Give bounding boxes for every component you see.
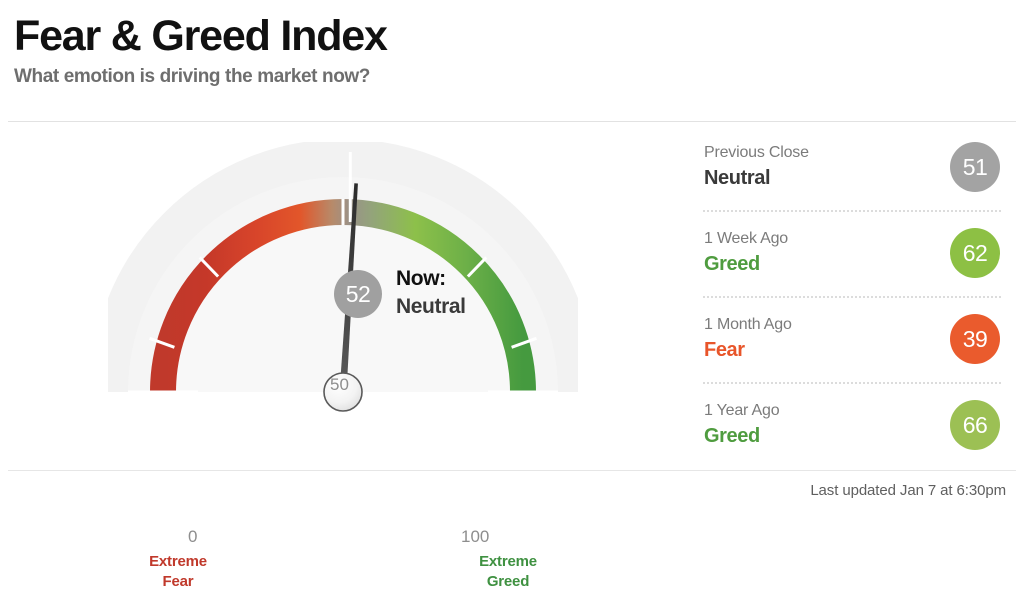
last-updated-timestamp: Last updated Jan 7 at 6:30pm bbox=[810, 482, 1006, 499]
history-row: 1 Year Ago Greed 66 bbox=[700, 382, 1006, 468]
history-row-sentiment: Greed bbox=[704, 424, 779, 449]
gauge-zone-label-extreme-fear: Extreme Fear bbox=[135, 552, 221, 593]
history-row-text: 1 Year Ago Greed bbox=[700, 401, 779, 449]
history-row-badge: 62 bbox=[950, 228, 1000, 278]
gauge-zone-label-extreme-greed: Extreme Greed bbox=[462, 552, 554, 593]
page-subtitle: What emotion is driving the market now? bbox=[14, 66, 1024, 88]
history-row-badge: 39 bbox=[950, 314, 1000, 364]
history-row-period: 1 Week Ago bbox=[704, 229, 788, 249]
history-row-badge: 66 bbox=[950, 400, 1000, 450]
gauge-tick-label-min: 0 bbox=[188, 527, 197, 547]
history-row-period: 1 Month Ago bbox=[704, 315, 792, 335]
gauge-zone-label-extreme-fear-line2: Fear bbox=[135, 572, 221, 592]
history-row-text: 1 Week Ago Greed bbox=[700, 229, 788, 277]
current-value-badge: 52 bbox=[334, 270, 382, 318]
page-title: Fear & Greed Index bbox=[14, 14, 1024, 59]
footer-divider bbox=[8, 470, 1016, 471]
history-row-period: 1 Year Ago bbox=[704, 401, 779, 421]
history-row-sentiment: Neutral bbox=[704, 166, 809, 191]
history-row-sentiment: Fear bbox=[704, 338, 792, 363]
header-divider bbox=[8, 121, 1016, 122]
history-row-period: Previous Close bbox=[704, 143, 809, 163]
history-row-sentiment: Greed bbox=[704, 252, 788, 277]
gauge-tick-label-mid: 50 bbox=[330, 375, 349, 395]
history-row-text: Previous Close Neutral bbox=[700, 143, 809, 191]
current-readout-sentiment: Neutral bbox=[396, 294, 596, 319]
history-row: Previous Close Neutral 51 bbox=[700, 124, 1006, 210]
history-row: 1 Week Ago Greed 62 bbox=[700, 210, 1006, 296]
history-row: 1 Month Ago Fear 39 bbox=[700, 296, 1006, 382]
gauge-panel: 0 50 100 Extreme Fear Extreme Greed 52 N… bbox=[0, 124, 660, 469]
current-readout: Now: Neutral bbox=[396, 266, 596, 319]
current-readout-label: Now: bbox=[396, 266, 596, 291]
gauge-tick-label-max: 100 bbox=[461, 527, 489, 547]
gauge-zone-label-extreme-greed-line1: Extreme bbox=[462, 552, 554, 572]
history-row-badge: 51 bbox=[950, 142, 1000, 192]
header: Fear & Greed Index What emotion is drivi… bbox=[0, 0, 1024, 88]
main-content: 0 50 100 Extreme Fear Extreme Greed 52 N… bbox=[0, 124, 1024, 469]
history-row-text: 1 Month Ago Fear bbox=[700, 315, 792, 363]
gauge-zone-label-extreme-fear-line1: Extreme bbox=[135, 552, 221, 572]
history-panel: Previous Close Neutral 51 1 Week Ago Gre… bbox=[700, 124, 1006, 469]
gauge-zone-label-extreme-greed-line2: Greed bbox=[462, 572, 554, 592]
